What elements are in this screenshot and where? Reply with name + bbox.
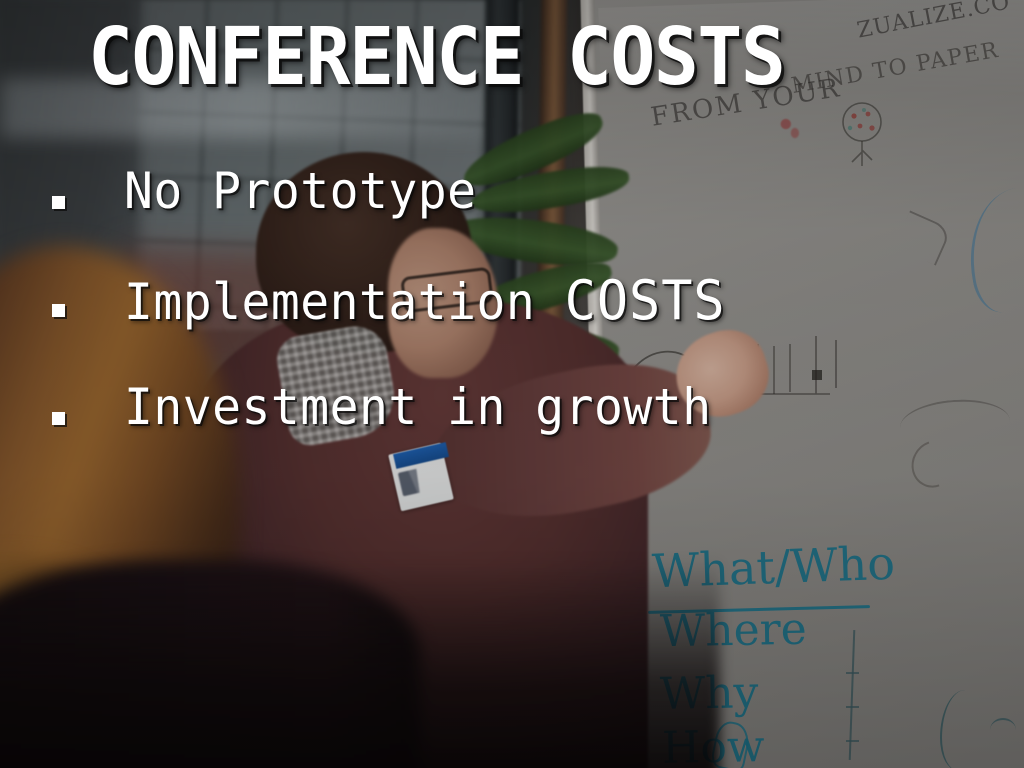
slide-content: CONFERENCE COSTS No Prototype Implementa… [0,0,1024,768]
bullet-emphasis-2: COSTS [565,269,726,332]
bullet-text-3: Investment in growth [124,378,712,436]
bullet-label-1: No Prototype [124,166,477,216]
slide-title: CONFERENCE COSTS [88,17,784,98]
bullet-label-3: Investment in growth [124,382,712,432]
bullet-label-2: Implementation COSTS [124,274,726,328]
bullet-text-2: Implementation [124,273,565,331]
square-bullet-icon [52,196,65,209]
presentation-slide: ZUALIZE.CO FROM YOUR MIND TO PAPER What/… [0,0,1024,768]
square-bullet-icon [52,304,65,317]
bullet-list: No Prototype Implementation COSTS Invest… [52,166,982,490]
list-item: Implementation COSTS [52,274,982,382]
list-item: No Prototype [52,166,982,274]
square-bullet-icon [52,412,65,425]
list-item: Investment in growth [52,382,982,490]
bullet-text-1: No Prototype [124,162,477,220]
